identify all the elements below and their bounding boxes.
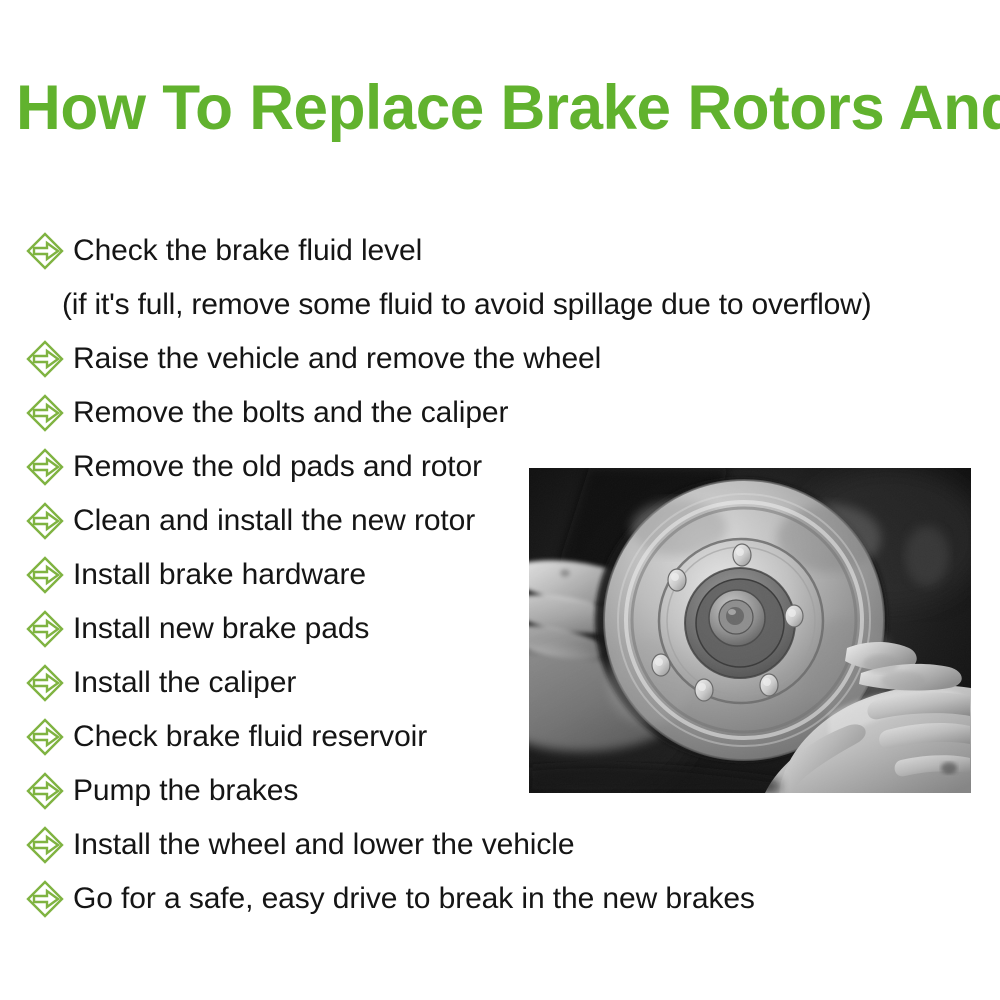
list-item[interactable]: Install new brake pads [0,602,1000,656]
list-item-label: Install brake hardware [73,558,366,592]
green-diamond-arrow-icon [25,825,65,865]
list-item-label: Clean and install the new rotor [73,504,475,538]
list-item[interactable]: Check the brake fluid level [0,224,1000,278]
list-item[interactable]: Install the caliper [0,656,1000,710]
list-item-label: Install the caliper [73,666,296,700]
list-item-label: Go for a safe, easy drive to break in th… [73,882,755,916]
list-item-label: Remove the old pads and rotor [73,450,482,484]
green-diamond-arrow-icon [25,609,65,649]
green-diamond-arrow-icon [25,447,65,487]
green-diamond-arrow-icon [25,339,65,379]
list-item[interactable]: Raise the vehicle and remove the wheel [0,332,1000,386]
green-diamond-arrow-icon [25,663,65,703]
list-item-label: Remove the bolts and the caliper [73,396,508,430]
list-item[interactable]: Clean and install the new rotor [0,494,1000,548]
sub-note-label: (if it's full, remove some fluid to avoi… [62,288,871,322]
list-item-label: Raise the vehicle and remove the wheel [73,342,601,376]
list-item-label: Install the wheel and lower the vehicle [73,828,574,862]
list-item[interactable]: Install brake hardware [0,548,1000,602]
list-item[interactable]: Pump the brakes [0,764,1000,818]
list-item[interactable]: Install the wheel and lower the vehicle [0,818,1000,872]
page-title: How To Replace Brake Rotors And Pads [16,72,973,144]
list-item[interactable]: Remove the bolts and the caliper [0,386,1000,440]
sub-note: (if it's full, remove some fluid to avoi… [0,278,1000,332]
list-item-label: Check brake fluid reservoir [73,720,427,754]
green-diamond-arrow-icon [25,393,65,433]
list-item[interactable]: Go for a safe, easy drive to break in th… [0,872,1000,926]
list-item-label: Pump the brakes [73,774,298,808]
green-diamond-arrow-icon [25,717,65,757]
green-diamond-arrow-icon [25,501,65,541]
green-diamond-arrow-icon [25,879,65,919]
list-item[interactable]: Remove the old pads and rotor [0,440,1000,494]
green-diamond-arrow-icon [25,555,65,595]
green-diamond-arrow-icon [25,771,65,811]
poster-page: How To Replace Brake Rotors And Pads [0,0,1000,1000]
list-item-label: Check the brake fluid level [73,234,422,268]
list-item[interactable]: Check brake fluid reservoir [0,710,1000,764]
green-diamond-arrow-icon [25,231,65,271]
steps-list: Check the brake fluid level (if it's ful… [0,224,1000,926]
list-item-label: Install new brake pads [73,612,369,646]
